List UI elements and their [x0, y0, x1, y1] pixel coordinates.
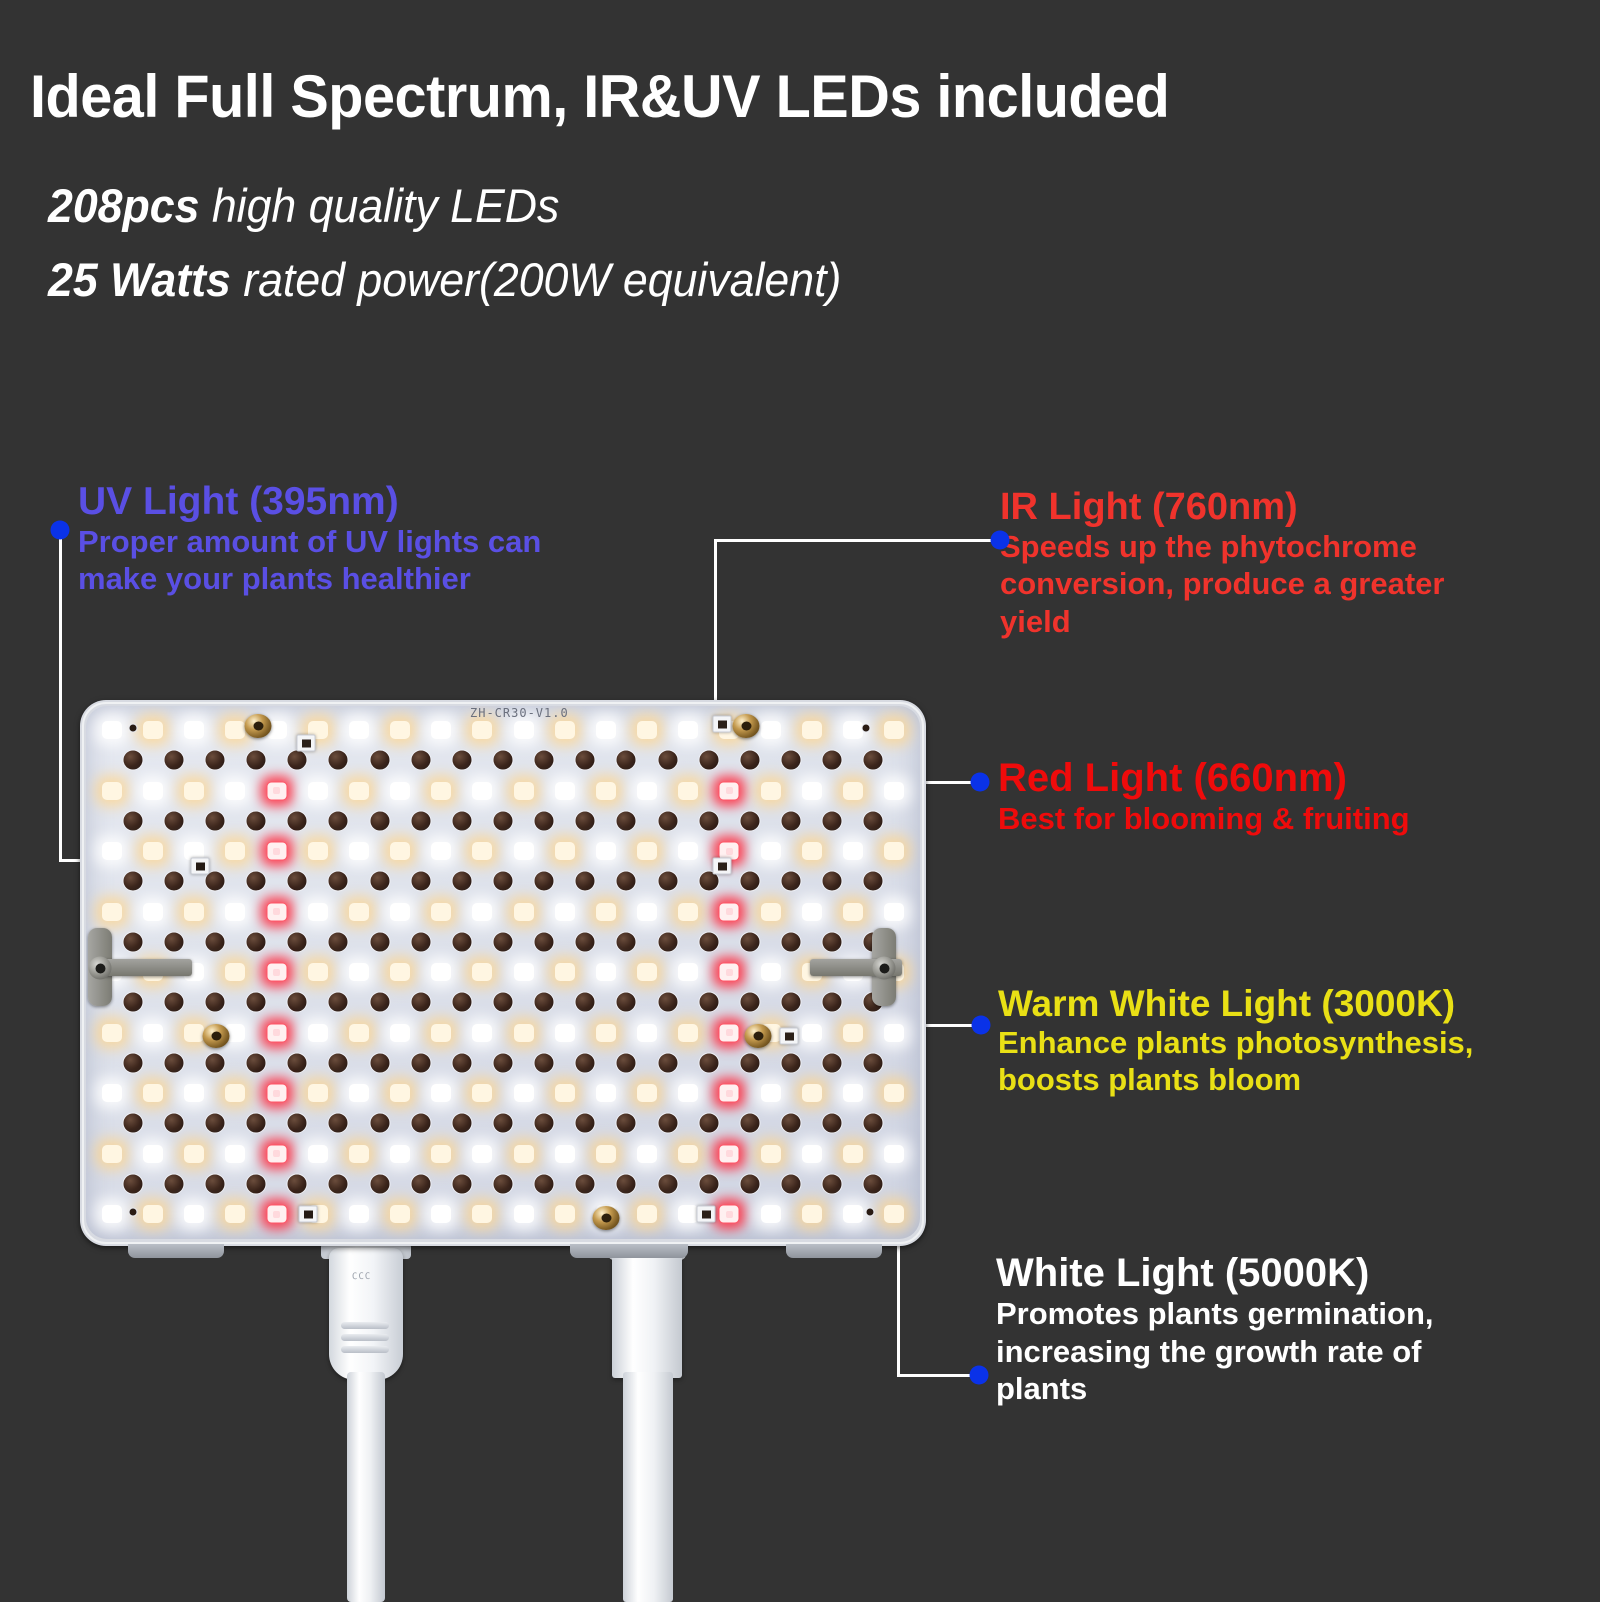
leader-dot-red-label — [971, 773, 990, 792]
led-unlit — [781, 1173, 802, 1194]
led-unlit — [163, 1113, 184, 1134]
led-unlit — [698, 931, 719, 952]
spec-power-value: 25 Watts — [48, 253, 231, 306]
led-unlit — [534, 871, 555, 892]
page-title: Ideal Full Spectrum, IR&UV LEDs included — [30, 62, 1169, 131]
led-warm-white-3000k — [390, 1084, 410, 1102]
led-unlit — [616, 1173, 637, 1194]
leader-line-white-vertical — [897, 1232, 900, 1377]
leader-line-ir-horizontal — [715, 539, 1001, 542]
callout-white-desc-line-1: Promotes plants germination, — [996, 1297, 1434, 1332]
callout-warm-white-title: Warm White Light (3000K) — [998, 985, 1473, 1023]
led-white-5000k — [184, 1084, 204, 1102]
led-unlit — [246, 871, 267, 892]
led-unlit — [863, 750, 884, 771]
led-unlit — [781, 1113, 802, 1134]
led-unlit — [369, 1173, 390, 1194]
led-white-5000k — [678, 1084, 698, 1102]
spec-led-text: high quality LEDs — [199, 179, 559, 232]
led-unlit — [493, 810, 514, 831]
led-red-660nm — [719, 902, 740, 921]
led-panel-face — [86, 706, 920, 1239]
led-warm-white-3000k — [843, 1145, 863, 1163]
led-unlit — [739, 992, 760, 1013]
callout-ir-desc-line-3: yield — [1000, 605, 1444, 640]
led-warm-white-3000k — [431, 1024, 451, 1042]
led-white-5000k — [678, 1205, 698, 1223]
led-warm-white-3000k — [678, 1024, 698, 1042]
led-unlit — [534, 1173, 555, 1194]
led-white-5000k — [514, 963, 534, 981]
led-unlit — [493, 992, 514, 1013]
led-white-5000k — [472, 1145, 492, 1163]
led-warm-white-3000k — [678, 782, 698, 800]
led-white-5000k — [349, 721, 369, 739]
led-warm-white-3000k — [884, 842, 904, 860]
callout-red-title: Red Light (660nm) — [998, 758, 1410, 799]
led-unlit — [534, 931, 555, 952]
led-white-5000k — [637, 1024, 657, 1042]
leader-dot-uv-label — [51, 521, 70, 540]
led-warm-white-3000k — [184, 782, 204, 800]
led-unlit — [863, 1052, 884, 1073]
led-warm-white-3000k — [514, 903, 534, 921]
led-unlit — [369, 1052, 390, 1073]
led-white-5000k — [884, 1145, 904, 1163]
led-white-5000k — [102, 1205, 122, 1223]
spec-line-power: 25 Watts rated power(200W equivalent) — [48, 252, 841, 307]
led-warm-white-3000k — [390, 1205, 410, 1223]
led-white-5000k — [143, 903, 163, 921]
led-unlit — [534, 750, 555, 771]
led-unlit — [204, 931, 225, 952]
led-warm-white-3000k — [184, 1145, 204, 1163]
led-unlit — [451, 1113, 472, 1134]
leader-dot-ir-label — [991, 531, 1010, 550]
led-warm-white-3000k — [802, 1205, 822, 1223]
led-unlit — [657, 931, 678, 952]
led-warm-white-3000k — [143, 842, 163, 860]
led-unlit — [575, 931, 596, 952]
led-unlit — [163, 1173, 184, 1194]
led-unlit — [328, 1173, 349, 1194]
led-unlit — [863, 1173, 884, 1194]
led-white-5000k — [514, 842, 534, 860]
led-white-5000k — [761, 1205, 781, 1223]
led-red-660nm — [266, 1023, 287, 1042]
callout-ir-title: IR Light (760nm) — [1000, 488, 1444, 527]
led-unlit — [616, 1113, 637, 1134]
led-ir-760nm — [713, 858, 732, 875]
led-white-5000k — [143, 1024, 163, 1042]
led-unlit — [451, 992, 472, 1013]
leader-line-ir-vertical — [714, 539, 717, 719]
led-white-5000k — [308, 903, 328, 921]
led-unlit — [822, 992, 843, 1013]
led-white-5000k — [514, 1205, 534, 1223]
led-unlit — [781, 992, 802, 1013]
led-unlit — [822, 931, 843, 952]
led-white-5000k — [431, 721, 451, 739]
led-unlit — [698, 750, 719, 771]
led-unlit — [739, 931, 760, 952]
led-white-5000k — [843, 1205, 863, 1223]
led-warm-white-3000k — [225, 963, 245, 981]
leader-line-uv-vertical — [59, 530, 62, 861]
led-warm-white-3000k — [555, 842, 575, 860]
led-warm-white-3000k — [555, 1084, 575, 1102]
led-red-660nm — [719, 1205, 740, 1224]
led-unlit — [410, 992, 431, 1013]
led-unlit — [246, 992, 267, 1013]
led-white-5000k — [637, 782, 657, 800]
led-uv-395nm — [299, 1206, 318, 1223]
callout-warm-white-light: Warm White Light (3000K) Enhance plants … — [998, 985, 1473, 1098]
led-white-5000k — [390, 1145, 410, 1163]
led-warm-white-3000k — [184, 1024, 204, 1042]
led-unlit — [410, 1173, 431, 1194]
led-warm-white-3000k — [637, 1205, 657, 1223]
led-unlit — [410, 1052, 431, 1073]
led-unlit — [204, 750, 225, 771]
led-white-5000k — [596, 1084, 616, 1102]
led-warm-white-3000k — [678, 1145, 698, 1163]
led-unlit — [534, 992, 555, 1013]
led-unlit — [493, 1173, 514, 1194]
led-red-660nm — [266, 842, 287, 861]
led-unlit — [163, 871, 184, 892]
led-unlit — [410, 931, 431, 952]
led-unlit — [698, 992, 719, 1013]
led-warm-white-3000k — [802, 842, 822, 860]
led-red-660nm — [266, 1144, 287, 1163]
led-unlit — [369, 1113, 390, 1134]
led-white-5000k — [225, 1145, 245, 1163]
led-warm-white-3000k — [472, 721, 492, 739]
led-unlit — [328, 810, 349, 831]
led-warm-white-3000k — [472, 842, 492, 860]
led-unlit — [451, 1052, 472, 1073]
led-unlit — [204, 1113, 225, 1134]
led-white-5000k — [431, 1205, 451, 1223]
led-warm-white-3000k — [802, 1084, 822, 1102]
led-red-660nm — [719, 963, 740, 982]
led-white-5000k — [555, 1145, 575, 1163]
led-unlit — [575, 1113, 596, 1134]
led-unlit — [122, 810, 143, 831]
led-warm-white-3000k — [555, 1205, 575, 1223]
led-white-5000k — [472, 1024, 492, 1042]
led-ir-760nm — [297, 735, 316, 752]
led-white-5000k — [472, 903, 492, 921]
led-unlit — [122, 1052, 143, 1073]
led-unlit — [698, 1113, 719, 1134]
led-warm-white-3000k — [472, 1205, 492, 1223]
led-unlit — [822, 871, 843, 892]
led-unlit — [863, 810, 884, 831]
led-unlit — [204, 1173, 225, 1194]
led-white-5000k — [761, 963, 781, 981]
led-white-5000k — [761, 1084, 781, 1102]
led-unlit — [739, 1052, 760, 1073]
led-unlit — [657, 1052, 678, 1073]
led-unlit — [781, 810, 802, 831]
led-white-5000k — [472, 782, 492, 800]
led-warm-white-3000k — [431, 903, 451, 921]
led-warm-white-3000k — [431, 782, 451, 800]
led-warm-white-3000k — [596, 1024, 616, 1042]
led-ir-760nm — [697, 1206, 716, 1223]
led-unlit — [781, 1052, 802, 1073]
led-unlit — [739, 871, 760, 892]
led-white-5000k — [431, 842, 451, 860]
led-warm-white-3000k — [349, 903, 369, 921]
power-plug-body — [329, 1248, 403, 1380]
led-uv-395nm — [191, 858, 210, 875]
led-unlit — [369, 750, 390, 771]
led-warm-white-3000k — [596, 1145, 616, 1163]
led-warm-white-3000k — [102, 903, 122, 921]
led-unlit — [657, 992, 678, 1013]
led-red-660nm — [266, 781, 287, 800]
led-white-5000k — [308, 1145, 328, 1163]
led-warm-white-3000k — [390, 721, 410, 739]
led-unlit — [616, 1052, 637, 1073]
led-warm-white-3000k — [143, 721, 163, 739]
panel-foot-pad-center — [570, 1244, 688, 1258]
led-unlit — [493, 931, 514, 952]
led-unlit — [863, 1113, 884, 1134]
led-warm-white-3000k — [184, 903, 204, 921]
led-white-5000k — [184, 721, 204, 739]
led-warm-white-3000k — [761, 903, 781, 921]
led-warm-white-3000k — [349, 782, 369, 800]
led-unlit — [534, 1113, 555, 1134]
led-white-5000k — [843, 842, 863, 860]
callout-ir-light: IR Light (760nm) Speeds up the phytochro… — [1000, 488, 1444, 640]
led-unlit — [328, 1052, 349, 1073]
callout-white-desc-line-2: increasing the growth rate of — [996, 1335, 1434, 1370]
led-white-5000k — [802, 782, 822, 800]
led-warm-white-3000k — [225, 1084, 245, 1102]
led-white-5000k — [349, 1084, 369, 1102]
led-unlit — [410, 1113, 431, 1134]
led-unlit — [534, 1052, 555, 1073]
spec-power-text: rated power(200W equivalent) — [231, 253, 842, 306]
callout-ir-desc-line-2: conversion, produce a greater — [1000, 567, 1444, 602]
led-unlit — [575, 871, 596, 892]
panel-screw — [245, 714, 272, 738]
led-warm-white-3000k — [143, 1084, 163, 1102]
led-warm-white-3000k — [884, 1205, 904, 1223]
led-unlit — [781, 871, 802, 892]
callout-red-light: Red Light (660nm) Best for blooming & fr… — [998, 758, 1410, 837]
led-warm-white-3000k — [102, 782, 122, 800]
gooseneck-lower-tube — [623, 1372, 673, 1602]
led-white-5000k — [102, 842, 122, 860]
led-white-5000k — [431, 963, 451, 981]
led-unlit — [287, 1173, 308, 1194]
led-unlit — [122, 1113, 143, 1134]
led-unlit — [575, 810, 596, 831]
led-warm-white-3000k — [596, 782, 616, 800]
leader-dot-warm-white-label — [972, 1016, 991, 1035]
led-unlit — [163, 750, 184, 771]
led-warm-white-3000k — [678, 903, 698, 921]
led-white-5000k — [102, 721, 122, 739]
spec-line-leds: 208pcs high quality LEDs — [48, 178, 559, 233]
led-warm-white-3000k — [802, 721, 822, 739]
led-white-5000k — [308, 1024, 328, 1042]
led-white-5000k — [555, 1024, 575, 1042]
led-unlit — [657, 1173, 678, 1194]
led-white-5000k — [143, 782, 163, 800]
led-unlit — [328, 750, 349, 771]
led-unlit — [493, 1113, 514, 1134]
led-warm-white-3000k — [102, 1024, 122, 1042]
leader-dot-white-label — [970, 1366, 989, 1385]
led-unlit — [781, 931, 802, 952]
pcb-via — [129, 1208, 138, 1217]
led-unlit — [698, 810, 719, 831]
board-marking-text: ZH-CR30-V1.0 — [470, 706, 569, 720]
led-white-5000k — [225, 782, 245, 800]
led-unlit — [863, 871, 884, 892]
led-warm-white-3000k — [349, 1024, 369, 1042]
led-unlit — [369, 931, 390, 952]
led-warm-white-3000k — [843, 1024, 863, 1042]
led-unlit — [493, 1052, 514, 1073]
plug-marking: CCC — [352, 1272, 371, 1282]
led-white-5000k — [678, 842, 698, 860]
led-warm-white-3000k — [761, 1145, 781, 1163]
led-white-5000k — [843, 721, 863, 739]
led-unlit — [204, 1052, 225, 1073]
led-unlit — [287, 750, 308, 771]
led-unlit — [122, 931, 143, 952]
led-unlit — [822, 1113, 843, 1134]
led-unlit — [369, 992, 390, 1013]
led-warm-white-3000k — [472, 963, 492, 981]
led-unlit — [122, 1173, 143, 1194]
led-warm-white-3000k — [514, 1024, 534, 1042]
led-white-5000k — [637, 903, 657, 921]
led-unlit — [328, 992, 349, 1013]
led-white-5000k — [102, 1084, 122, 1102]
led-white-5000k — [143, 1145, 163, 1163]
gooseneck-upper-tube — [612, 1252, 682, 1378]
power-cord — [347, 1372, 385, 1602]
led-warm-white-3000k — [308, 1084, 328, 1102]
led-unlit — [575, 1173, 596, 1194]
led-unlit — [616, 810, 637, 831]
led-unlit — [328, 871, 349, 892]
led-ir-760nm — [780, 1028, 799, 1045]
led-unlit — [410, 810, 431, 831]
led-unlit — [781, 750, 802, 771]
led-unlit — [328, 1113, 349, 1134]
callout-uv-desc-line-1: Proper amount of UV lights can — [78, 525, 541, 560]
callout-uv-light: UV Light (395nm) Proper amount of UV lig… — [78, 482, 541, 597]
led-warm-white-3000k — [472, 1084, 492, 1102]
led-unlit — [246, 1052, 267, 1073]
led-red-660nm — [719, 781, 740, 800]
led-red-660nm — [719, 1144, 740, 1163]
led-white-5000k — [761, 721, 781, 739]
led-unlit — [451, 810, 472, 831]
led-warm-white-3000k — [555, 721, 575, 739]
led-white-5000k — [390, 782, 410, 800]
led-warm-white-3000k — [514, 782, 534, 800]
led-unlit — [739, 810, 760, 831]
led-warm-white-3000k — [637, 1084, 657, 1102]
led-unlit — [287, 1052, 308, 1073]
led-unlit — [657, 810, 678, 831]
led-white-5000k — [349, 842, 369, 860]
led-warm-white-3000k — [637, 842, 657, 860]
led-unlit — [246, 750, 267, 771]
led-unlit — [698, 1052, 719, 1073]
led-unlit — [451, 931, 472, 952]
led-unlit — [534, 810, 555, 831]
panel-screw — [593, 1206, 620, 1230]
led-unlit — [451, 1173, 472, 1194]
led-unlit — [163, 810, 184, 831]
led-unlit — [493, 871, 514, 892]
led-warm-white-3000k — [637, 963, 657, 981]
led-unlit — [739, 750, 760, 771]
led-unlit — [616, 871, 637, 892]
led-unlit — [575, 992, 596, 1013]
led-warm-white-3000k — [555, 963, 575, 981]
led-unlit — [657, 750, 678, 771]
pcb-via — [862, 724, 871, 733]
led-unlit — [246, 1173, 267, 1194]
led-unlit — [246, 810, 267, 831]
led-red-660nm — [719, 1023, 740, 1042]
led-white-5000k — [802, 1024, 822, 1042]
led-white-5000k — [802, 1145, 822, 1163]
callout-uv-desc-line-2: make your plants healthier — [78, 562, 541, 597]
led-white-5000k — [514, 1084, 534, 1102]
callout-white-title: White Light (5000K) — [996, 1253, 1434, 1294]
led-white-5000k — [390, 903, 410, 921]
led-white-5000k — [761, 842, 781, 860]
led-unlit — [163, 992, 184, 1013]
led-unlit — [698, 1173, 719, 1194]
led-unlit — [122, 750, 143, 771]
callout-white-desc-line-3: plants — [996, 1372, 1434, 1407]
infographic-canvas: Ideal Full Spectrum, IR&UV LEDs included… — [0, 0, 1600, 1600]
led-red-660nm — [266, 963, 287, 982]
led-white-5000k — [596, 721, 616, 739]
led-white-5000k — [884, 903, 904, 921]
panel-foot-pad-left — [128, 1244, 224, 1258]
led-unlit — [204, 810, 225, 831]
leader-line-white-horizontal — [897, 1374, 979, 1377]
panel-screw — [745, 1024, 772, 1048]
led-warm-white-3000k — [390, 842, 410, 860]
led-unlit — [287, 931, 308, 952]
led-unlit — [822, 1173, 843, 1194]
led-unlit — [616, 931, 637, 952]
led-warm-white-3000k — [143, 1205, 163, 1223]
callout-warm-white-desc-line-2: boosts plants bloom — [998, 1063, 1473, 1098]
led-unlit — [204, 992, 225, 1013]
led-unlit — [163, 931, 184, 952]
led-white-5000k — [678, 963, 698, 981]
led-unlit — [287, 810, 308, 831]
